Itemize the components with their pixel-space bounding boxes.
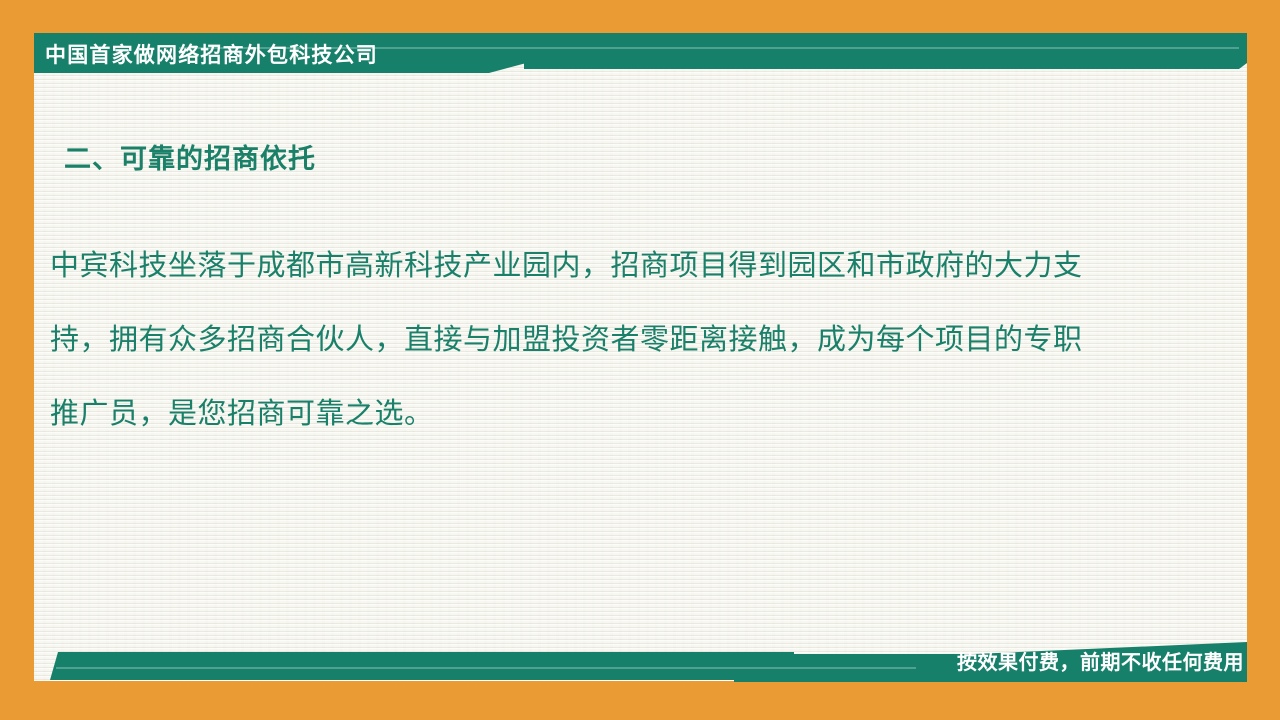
header-right-strip <box>524 33 1247 69</box>
body-paragraph: 中宾科技坐落于成都市高新科技产业园内，招商项目得到园区和市政府的大力支 持，拥有… <box>50 228 1190 450</box>
body-line-2: 持，拥有众多招商合伙人，直接与加盟投资者零距离接触，成为每个项目的专职 <box>50 302 1190 376</box>
footer-accent-line <box>56 667 916 669</box>
footer-left-strip <box>50 652 794 680</box>
header-title: 中国首家做网络招商外包科技公司 <box>45 38 378 72</box>
section-heading: 二、可靠的招商依托 <box>64 137 316 176</box>
body-line-3: 推广员，是您招商可靠之选。 <box>50 376 1190 450</box>
slide: 中国首家做网络招商外包科技公司 二、可靠的招商依托 中宾科技坐落于成都市高新科技… <box>0 0 1280 720</box>
body-line-1: 中宾科技坐落于成都市高新科技产业园内，招商项目得到园区和市政府的大力支 <box>50 228 1190 302</box>
footer-tagline: 按效果付费，前期不收任何费用 <box>957 646 1244 678</box>
